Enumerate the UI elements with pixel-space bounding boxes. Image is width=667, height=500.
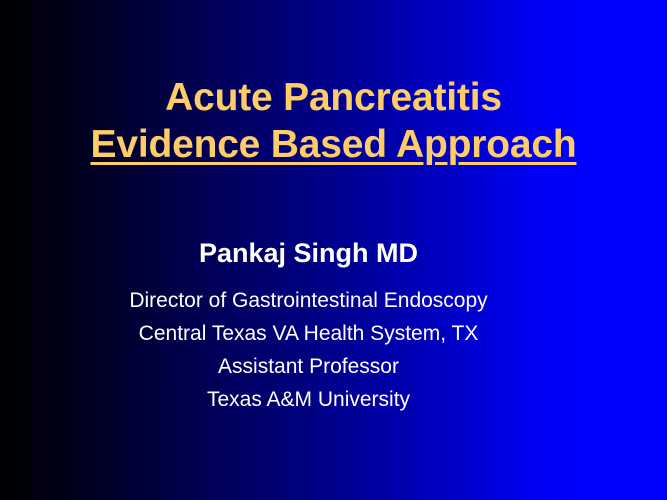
- presentation-slide: Acute Pancreatitis Evidence Based Approa…: [0, 0, 667, 500]
- affiliation-line-3: Assistant Professor: [0, 350, 617, 383]
- title-line-secondary: Evidence Based Approach: [0, 121, 667, 168]
- affiliation-line-4: Texas A&M University: [0, 383, 617, 416]
- title-line-primary: Acute Pancreatitis: [0, 74, 667, 121]
- affiliation-line-2: Central Texas VA Health System, TX: [0, 317, 617, 350]
- slide-title: Acute Pancreatitis Evidence Based Approa…: [0, 74, 667, 168]
- affiliation-line-1: Director of Gastrointestinal Endoscopy: [0, 284, 617, 317]
- slide-subtitle: Pankaj Singh MD Director of Gastrointest…: [0, 236, 617, 416]
- author-name: Pankaj Singh MD: [0, 236, 617, 270]
